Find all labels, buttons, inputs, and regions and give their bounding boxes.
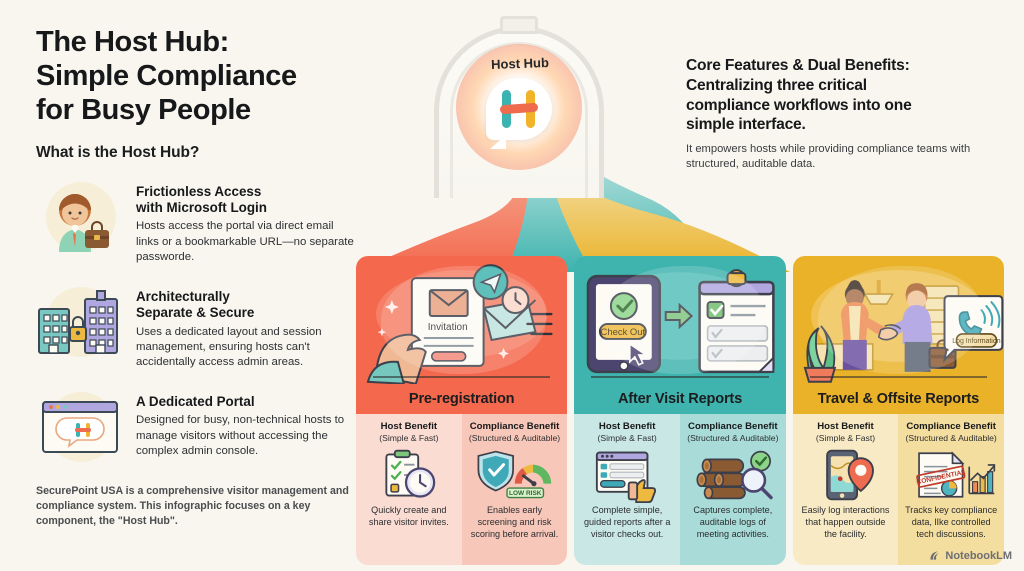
feature-title-line-1: A Dedicated Portal — [136, 394, 358, 410]
buildings-with-lock-icon — [36, 283, 124, 361]
feature-item-frictionless-access: Frictionless Access with Microsoft Login… — [36, 178, 358, 265]
browser-window-host-hub-icon — [36, 388, 124, 466]
right-heading-description: It empowers hosts while providing compli… — [686, 142, 986, 172]
feature-description: Designed for busy, non-technical hosts t… — [136, 413, 358, 458]
panel-artwork: Check Out — [574, 256, 785, 384]
form-window-with-thumbs-up-icon — [580, 447, 674, 503]
logs-with-magnifier-icon — [686, 447, 780, 503]
benefit-title: Host Benefit — [817, 421, 874, 432]
benefit-subtitle: (Simple & Fast) — [816, 433, 875, 443]
feature-text: Frictionless Access with Microsoft Login… — [136, 178, 358, 265]
benefit-subtitle: (Structured & Auditable) — [687, 433, 778, 443]
right-heading-line-3: compliance workflows into one — [686, 96, 986, 116]
left-column: The Host Hub: Simple Compliance for Busy… — [36, 26, 358, 546]
panel-pre-registration[interactable]: Invitation Pre-registration — [356, 256, 567, 565]
footnote: SecurePoint USA is a comprehensive visit… — [36, 484, 354, 529]
workflow-panels: Invitation Pre-registration — [356, 256, 1004, 565]
businessman-with-briefcase-icon — [36, 178, 124, 256]
benefit-description: Quickly create and share visitor invites… — [362, 505, 456, 529]
feature-item-dedicated-portal: A Dedicated Portal Designed for busy, no… — [36, 388, 358, 466]
infographic-canvas: The Host Hub: Simple Compliance for Busy… — [0, 0, 1024, 571]
panel-after-visit-reports[interactable]: Check Out — [574, 256, 785, 565]
phone-map-pin-icon — [799, 447, 893, 503]
benefit-title: Host Benefit — [599, 421, 656, 432]
benefit-compliance: Compliance Benefit (Structured & Auditab… — [898, 414, 1004, 565]
benefit-description: Enables early screening and risk scoring… — [468, 505, 562, 540]
panel-benefits: Host Benefit (Simple & Fast) — [793, 414, 1004, 565]
arch-cap — [500, 16, 538, 34]
feature-title-line-1: Architecturally — [136, 289, 358, 305]
notebooklm-icon — [928, 549, 941, 562]
benefit-subtitle: (Simple & Fast) — [598, 433, 657, 443]
panel-artwork: Log Information — [793, 256, 1004, 384]
panel-artwork: Invitation — [356, 256, 567, 384]
benefit-subtitle: (Structured & Auditable) — [906, 433, 997, 443]
panel-title: Pre-registration — [356, 384, 567, 414]
benefit-title: Compliance Benefit — [906, 421, 996, 432]
benefit-title: Host Benefit — [381, 421, 438, 432]
feature-title-line-2: Separate & Secure — [136, 305, 358, 321]
right-heading-line-1: Core Features & Dual Benefits: — [686, 56, 986, 76]
benefit-host: Host Benefit (Simple & Fast) — [793, 414, 899, 565]
benefit-description: Captures complete, auditable logs of mee… — [686, 505, 780, 540]
panel-title: Travel & Offsite Reports — [793, 384, 1004, 414]
page-title: The Host Hub: Simple Compliance for Busy… — [36, 26, 358, 128]
right-heading-line-4: simple interface. — [686, 115, 986, 135]
benefit-title: Compliance Benefit — [470, 421, 560, 432]
feature-item-architecturally-separate: Architecturally Separate & Secure Uses a… — [36, 283, 358, 370]
panel-benefits: Host Benefit (Simple & Fast) — [574, 414, 785, 565]
feature-title: Architecturally Separate & Secure — [136, 289, 358, 322]
benefit-description: Tracks key compliance data, lIke control… — [904, 505, 998, 540]
page-title-line-2: Simple Compliance — [36, 60, 358, 94]
benefit-description: Easily log interactions that happen outs… — [799, 505, 893, 540]
right-heading-line-2: Centralizing three critical — [686, 76, 986, 96]
feature-text: A Dedicated Portal Designed for busy, no… — [136, 388, 358, 459]
feature-description: Uses a dedicated layout and session mana… — [136, 325, 358, 370]
feature-title: Frictionless Access with Microsoft Login — [136, 184, 358, 217]
confidential-report-chart-icon: CONFIDENTIAL — [904, 447, 998, 503]
feature-title: A Dedicated Portal — [136, 394, 358, 410]
watermark-label: NotebookLM — [945, 550, 1012, 562]
feature-text: Architecturally Separate & Secure Uses a… — [136, 283, 358, 370]
benefit-compliance: Compliance Benefit (Structured & Auditab… — [680, 414, 786, 565]
feature-description: Hosts access the portal via direct email… — [136, 219, 358, 264]
right-column-heading: Core Features & Dual Benefits: Centraliz… — [686, 56, 986, 173]
benefit-host: Host Benefit (Simple & Fast) — [574, 414, 680, 565]
benefit-host: Host Benefit (Simple & Fast) — [356, 414, 462, 565]
right-heading-title: Core Features & Dual Benefits: Centraliz… — [686, 56, 986, 135]
benefit-compliance: Compliance Benefit (Structured & Auditab… — [462, 414, 568, 565]
feature-list: Frictionless Access with Microsoft Login… — [36, 178, 358, 466]
panel-title: After Visit Reports — [574, 384, 785, 414]
page-title-line-3: for Busy People — [36, 94, 358, 128]
watermark: NotebookLM — [928, 549, 1012, 562]
benefit-subtitle: (Structured & Auditable) — [469, 433, 560, 443]
panel-benefits: Host Benefit (Simple & Fast) — [356, 414, 567, 565]
benefit-subtitle: (Simple & Fast) — [379, 433, 438, 443]
feature-title-line-1: Frictionless Access — [136, 184, 358, 200]
page-title-line-1: The Host Hub: — [36, 26, 358, 60]
benefit-title: Compliance Benefit — [688, 421, 778, 432]
section-heading: What is the Host Hub? — [36, 144, 358, 162]
host-hub-logo-bubble — [486, 78, 552, 140]
host-hub-hero: Host Hub — [424, 8, 614, 198]
panel-travel-offsite-reports[interactable]: Log Information Travel & Offsite Reports… — [793, 256, 1004, 565]
shield-check-with-risk-gauge-icon: LOW RISK — [468, 447, 562, 503]
benefit-description: Complete simple, guided reports after a … — [580, 505, 674, 540]
feature-title-line-2: with Microsoft Login — [136, 200, 358, 216]
risk-badge-label: LOW RISK — [509, 490, 542, 497]
clipboard-with-clock-icon — [362, 447, 456, 503]
